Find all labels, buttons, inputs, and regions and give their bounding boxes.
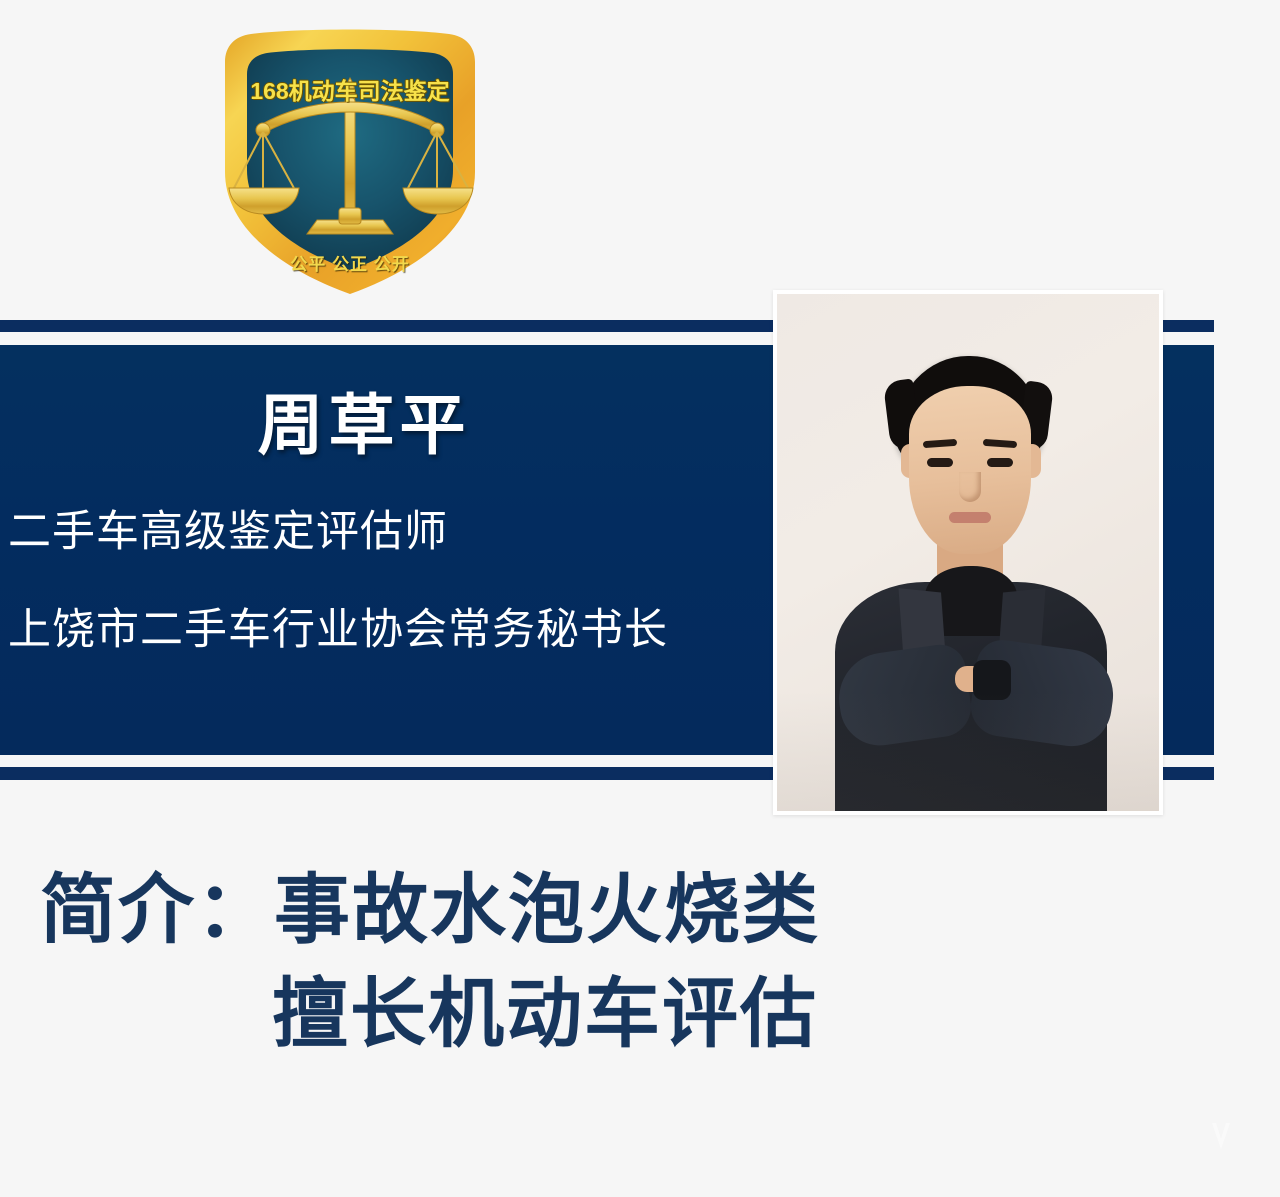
logo-motto-text: 公平 公正 公开 <box>217 250 483 275</box>
intro-line-1: 简介：事故水泡火烧类 <box>0 858 1280 962</box>
person-name: 周草平 <box>0 372 728 468</box>
credential-line-2: 上饶市二手车行业协会常务秘书长 <box>8 595 668 657</box>
logo-top-text: 168机动车司法鉴定 <box>217 72 483 106</box>
watermark-icon <box>1206 1119 1236 1153</box>
portrait-nose <box>959 472 981 502</box>
portrait-eye-right <box>987 458 1013 467</box>
portrait-frame <box>773 290 1163 815</box>
intro-text-block: 简介：事故水泡火烧类 擅长机动车评估 <box>0 858 1280 1066</box>
credential-line-1: 二手车高级鉴定评估师 <box>8 497 448 559</box>
intro-line-2: 擅长机动车评估 <box>0 962 1280 1066</box>
poster-canvas: 168机动车司法鉴定 公平 公正 公开 周草平 二手车高级鉴定评估师 上饶市二手… <box>0 0 1280 1197</box>
portrait-eye-left <box>927 458 953 467</box>
portrait-face <box>909 386 1031 554</box>
brand-logo: 168机动车司法鉴定 公平 公正 公开 <box>217 22 483 298</box>
portrait-mouth <box>949 512 991 523</box>
portrait-photo <box>777 294 1159 811</box>
portrait-cuff <box>973 660 1011 700</box>
